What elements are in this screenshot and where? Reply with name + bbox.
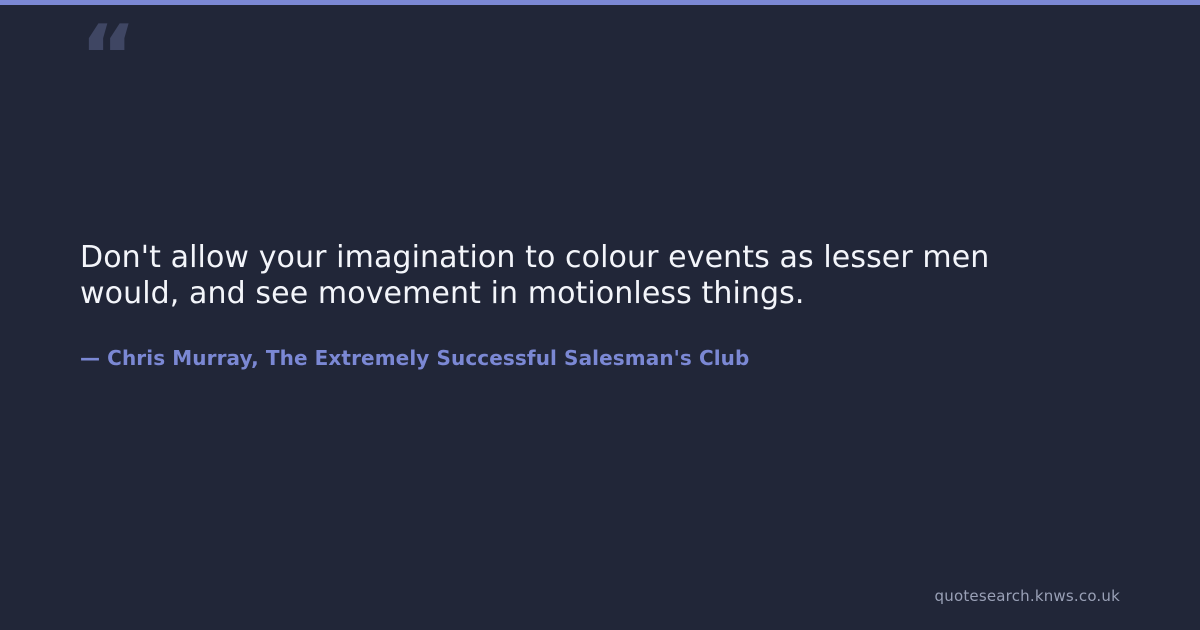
quote-text: Don't allow your imagination to colour e…	[80, 240, 1065, 312]
quote-attribution: — Chris Murray, The Extremely Successful…	[80, 312, 1090, 371]
site-watermark: quotesearch.knws.co.uk	[935, 587, 1120, 605]
open-quote-icon: “	[80, 14, 135, 100]
top-accent-bar	[0, 0, 1200, 5]
quote-content: Don't allow your imagination to colour e…	[80, 240, 1090, 371]
quote-card: “ Don't allow your imagination to colour…	[0, 0, 1200, 630]
